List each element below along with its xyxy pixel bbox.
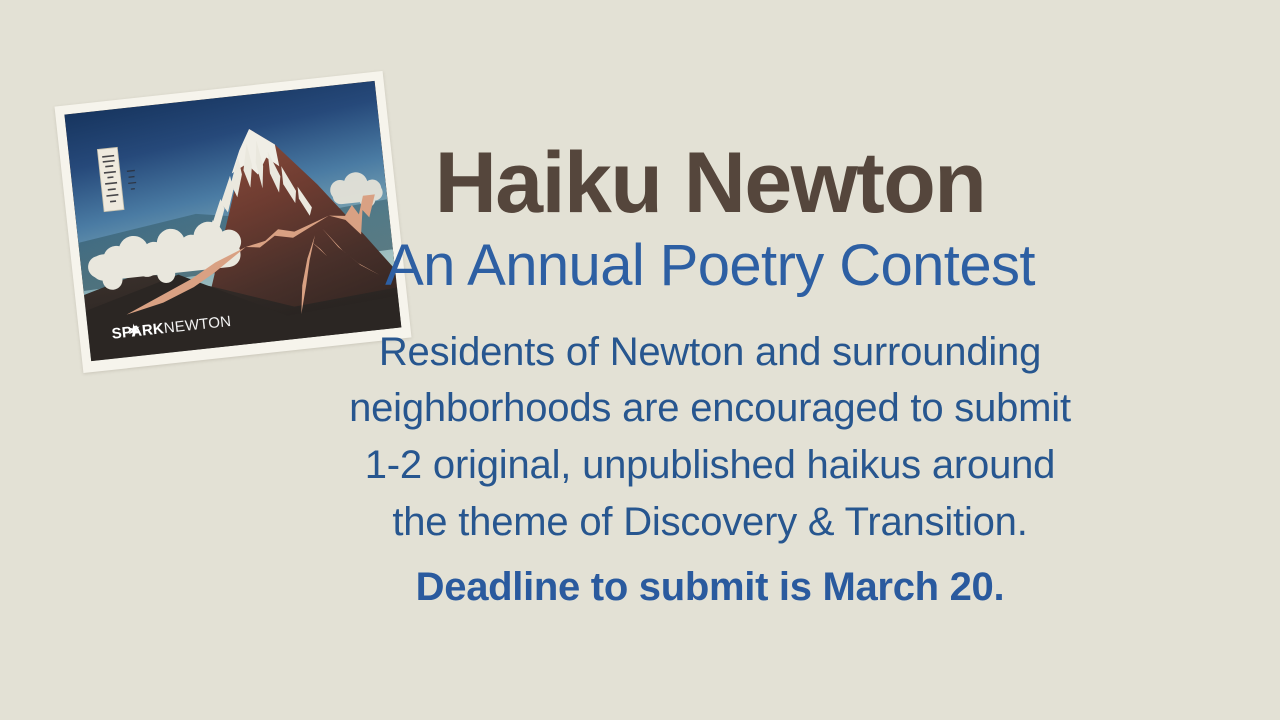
poster-slide: SPARK NEWTON Haiku Newton An Annual Poet… — [0, 0, 1280, 720]
body-line-4: the theme of Discovery & Transition. — [180, 494, 1240, 551]
text-block: Haiku Newton An Annual Poetry Contest Re… — [180, 140, 1240, 616]
body-line-3: 1-2 original, unpublished haikus around — [180, 437, 1240, 494]
page-title: Haiku Newton — [180, 140, 1240, 228]
body-line-1: Residents of Newton and surrounding — [180, 324, 1240, 381]
deadline-text: Deadline to submit is March 20. — [180, 559, 1240, 616]
page-subtitle: An Annual Poetry Contest — [180, 234, 1240, 298]
body-line-2: neighborhoods are encouraged to submit — [180, 380, 1240, 437]
star-icon — [127, 322, 142, 337]
body-copy: Residents of Newton and surrounding neig… — [180, 324, 1240, 616]
